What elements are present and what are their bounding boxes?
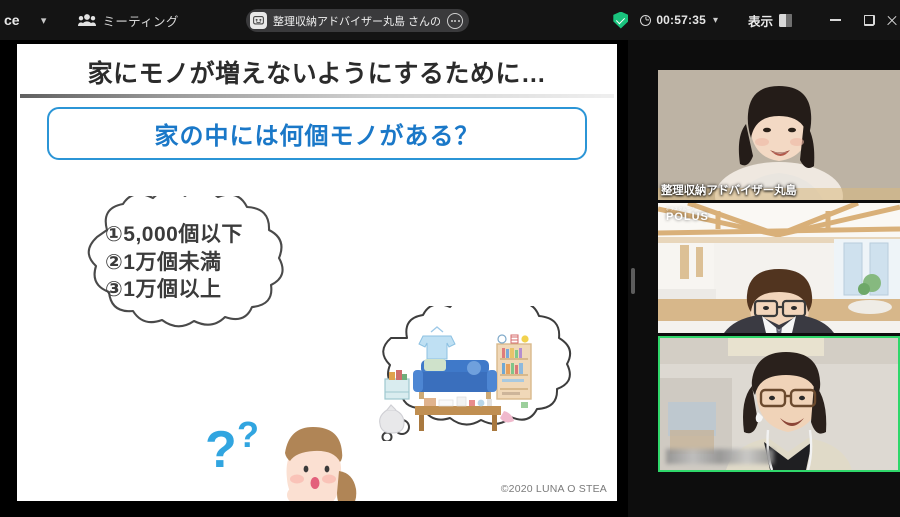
chevron-down-icon[interactable]: ▾: [36, 14, 52, 27]
app-name-label: ce: [0, 12, 20, 28]
screen-share-label: 整理収納アドバイザー丸島 さんの: [273, 13, 441, 29]
meeting-tab[interactable]: ミーティング: [78, 11, 179, 30]
meeting-window: ce ▾ ミーティング: [0, 0, 900, 517]
question-box-text: 家の中には何個モノがある？: [155, 116, 480, 151]
laundry-bag-illustration: [380, 405, 404, 433]
presentation-slide: 家にモノが増えないようにするために… 家の中には何個モノがある？ ①5,000個…: [17, 44, 617, 501]
participant-video-rail: 整理収納アドバイザー丸島: [640, 40, 900, 517]
thought-bubble-room-shape: [369, 306, 617, 441]
polus-watermark-sub: ポラスグループ: [666, 208, 709, 212]
view-layout-button[interactable]: 表示: [748, 11, 792, 30]
options-thought-bubble: ①5,000個以下 ②1万個未満 ③1万個以上: [62, 196, 362, 346]
copyright-notice: ©2020 LUNA O STEA: [501, 483, 607, 495]
video-tile-3-active-speaker[interactable]: [658, 336, 900, 472]
chevron-down-icon[interactable]: ▾: [713, 15, 718, 26]
close-button[interactable]: [886, 0, 900, 40]
woman-figure: [279, 427, 357, 501]
screen-share-icon: [250, 12, 267, 29]
meeting-timer[interactable]: 00:57:35 ▾: [640, 13, 718, 27]
option-item-3: ③1万個以上: [105, 276, 355, 304]
question-box: 家の中には何個モノがある？: [47, 107, 587, 160]
people-icon: [78, 13, 96, 27]
clock-icon: [640, 15, 651, 26]
polus-watermark: ポラスグループ POLUS: [666, 208, 709, 223]
video-tile-1[interactable]: 整理収納アドバイザー丸島: [658, 70, 900, 200]
window-controls: [818, 0, 900, 40]
participant-name-label: 整理収納アドバイザー丸島: [661, 182, 797, 198]
titlebar-right-group: 00:57:35 ▾ 表示: [613, 0, 900, 40]
layout-icon: [779, 14, 792, 27]
meeting-tab-label: ミーティング: [103, 11, 179, 30]
room-thought-bubble: [369, 306, 617, 441]
svg-text:?: ?: [237, 419, 259, 455]
meeting-timer-value: 00:57:35: [656, 13, 706, 27]
svg-text:?: ?: [205, 421, 237, 479]
restore-window-button[interactable]: [852, 0, 886, 40]
question-mark-icon: ? ?: [205, 419, 259, 479]
polus-watermark-text: POLUS: [666, 211, 709, 223]
option-item-1: ①5,000個以下: [105, 221, 355, 249]
more-options-icon[interactable]: [447, 13, 463, 29]
page-title: 家にモノが増えないようにするために…: [17, 54, 617, 90]
bookshelf-illustration: [497, 335, 531, 399]
title-divider: [20, 94, 614, 98]
pane-divider-handle[interactable]: [631, 268, 635, 294]
confused-woman-illustration: ? ?: [205, 419, 365, 501]
option-item-2: ②1万個未満: [105, 249, 355, 277]
blurred-nameplate: [666, 449, 774, 464]
minimize-button[interactable]: [818, 0, 852, 40]
titlebar-left-group: ce ▾ ミーティング: [0, 11, 179, 30]
options-list: ①5,000個以下 ②1万個未満 ③1万個以上: [105, 221, 355, 304]
screen-share-indicator[interactable]: 整理収納アドバイザー丸島 さんの: [246, 9, 469, 32]
security-shield-icon[interactable]: [613, 12, 628, 29]
shared-screen-stage[interactable]: 家にモノが増えないようにするために… 家の中には何個モノがある？ ①5,000個…: [0, 40, 628, 517]
view-layout-label: 表示: [748, 11, 773, 30]
video-tile-2[interactable]: ポラスグループ POLUS: [658, 203, 900, 333]
participant-video-1: [658, 70, 900, 200]
title-bar: ce ▾ ミーティング: [0, 0, 900, 40]
